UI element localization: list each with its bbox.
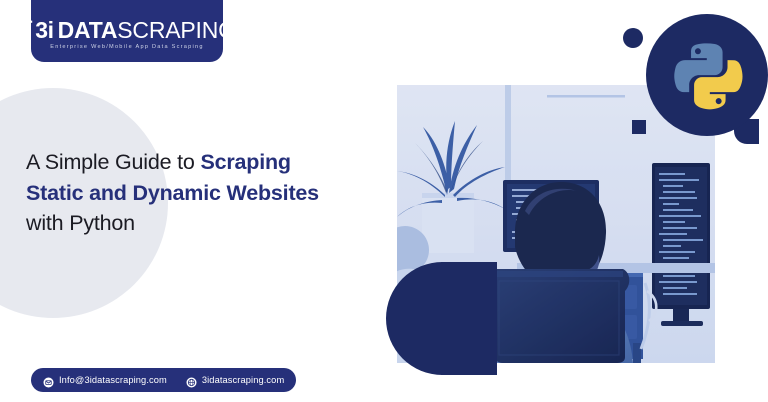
logo-scraping-text: SCRAPING xyxy=(117,20,236,41)
contact-website[interactable]: 3idatascraping.com xyxy=(186,375,284,386)
title-line-1: A Simple Guide to Scraping xyxy=(26,147,356,178)
contact-email[interactable]: Info@3idatascraping.com xyxy=(43,375,167,386)
logo-wordmark: 3i DATA SCRAPING xyxy=(18,18,236,41)
blog-banner: 3i DATA SCRAPING Enterprise Web/Mobile A… xyxy=(0,0,768,402)
square-decor-small xyxy=(632,120,646,134)
brand-logo[interactable]: 3i DATA SCRAPING Enterprise Web/Mobile A… xyxy=(31,0,223,62)
title-line-3: with Python xyxy=(26,208,356,239)
logo-data-text: DATA xyxy=(58,20,118,41)
dots-grid-icon xyxy=(18,18,34,40)
contact-email-text: Info@3idatascraping.com xyxy=(59,375,167,385)
title-line-1-normal: A Simple Guide to xyxy=(26,150,200,174)
contact-bar: Info@3idatascraping.com 3idatascraping.c… xyxy=(31,368,296,392)
title-line-1-bold: Scraping xyxy=(200,150,290,174)
globe-icon xyxy=(186,375,197,386)
logo-prefix: 3i xyxy=(35,20,53,41)
envelope-icon xyxy=(43,375,54,386)
circle-decor xyxy=(623,28,643,48)
logo-tagline: Enterprise Web/Mobile App Data Scraping xyxy=(50,44,203,50)
contact-website-text: 3idatascraping.com xyxy=(202,375,284,385)
python-logo-icon xyxy=(646,14,768,136)
title-line-2: Static and Dynamic Websites xyxy=(26,178,356,209)
page-title: A Simple Guide to Scraping Static and Dy… xyxy=(26,147,356,239)
title-line-2-bold: Static and Dynamic Websites xyxy=(26,181,319,205)
quarter-circle-decor xyxy=(386,262,496,375)
